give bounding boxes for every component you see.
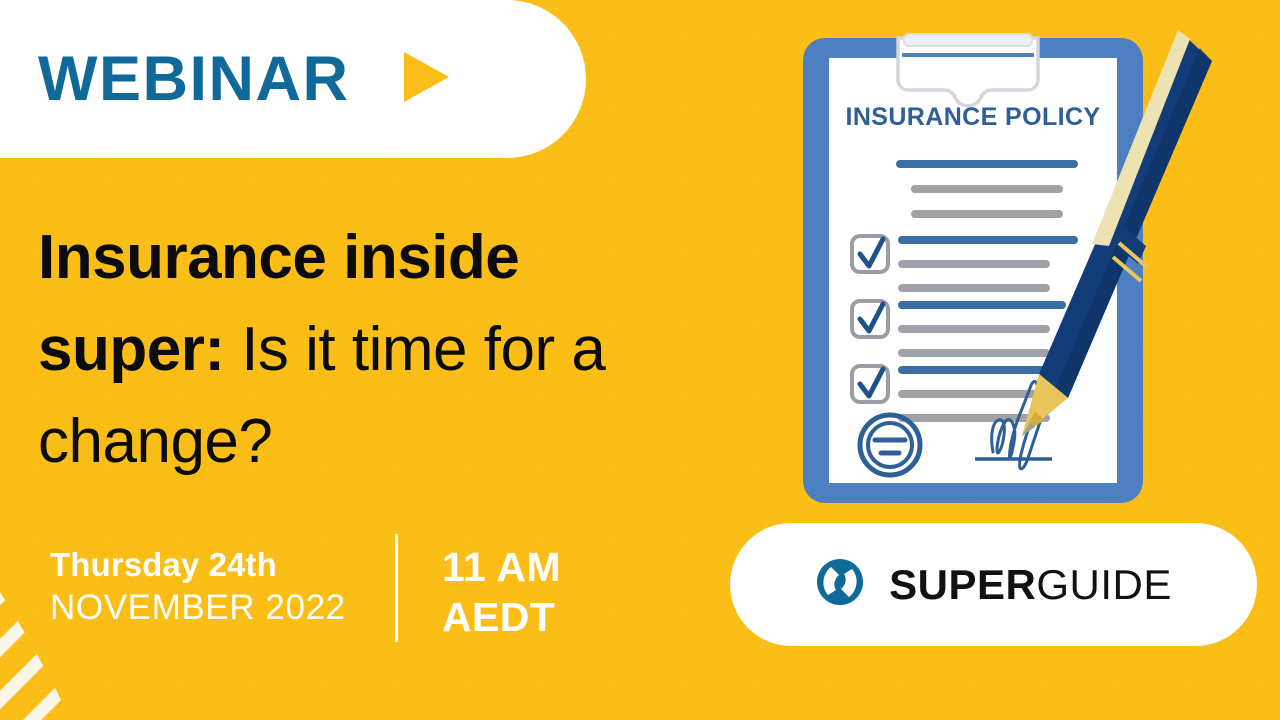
schedule-divider xyxy=(395,534,398,642)
page-title: Insurance inside super: Is it time for a… xyxy=(38,212,718,487)
superguide-circle-s-icon xyxy=(815,557,865,612)
superguide-wordmark: SUPERGUIDE xyxy=(889,564,1172,606)
date-month-text: NOVEMBER 2022 xyxy=(50,586,395,631)
webinar-badge: WEBINAR xyxy=(0,0,586,158)
schedule-block: Thursday 24th NOVEMBER 2022 11 AM AEDT xyxy=(50,534,561,642)
play-triangle-icon[interactable] xyxy=(391,44,457,115)
date-day-text: Thursday 24th xyxy=(50,544,395,586)
time-text: 11 AM xyxy=(442,542,561,592)
superguide-logo-pill[interactable]: SUPERGUIDE xyxy=(730,523,1257,646)
time-column: 11 AM AEDT xyxy=(442,534,561,642)
webinar-label: WEBINAR xyxy=(38,48,349,111)
policy-title: INSURANCE POLICY xyxy=(845,103,1100,131)
webinar-promo-graphic: WEBINAR Insurance inside super: Is it ti… xyxy=(0,0,1280,720)
date-column: Thursday 24th NOVEMBER 2022 xyxy=(50,534,395,642)
clipboard-with-pen-illustration: INSURANCE POLICY xyxy=(786,8,1226,513)
logo-word-super: SUPER xyxy=(889,561,1036,608)
logo-word-guide: GUIDE xyxy=(1036,561,1172,608)
timezone-text: AEDT xyxy=(442,592,561,642)
